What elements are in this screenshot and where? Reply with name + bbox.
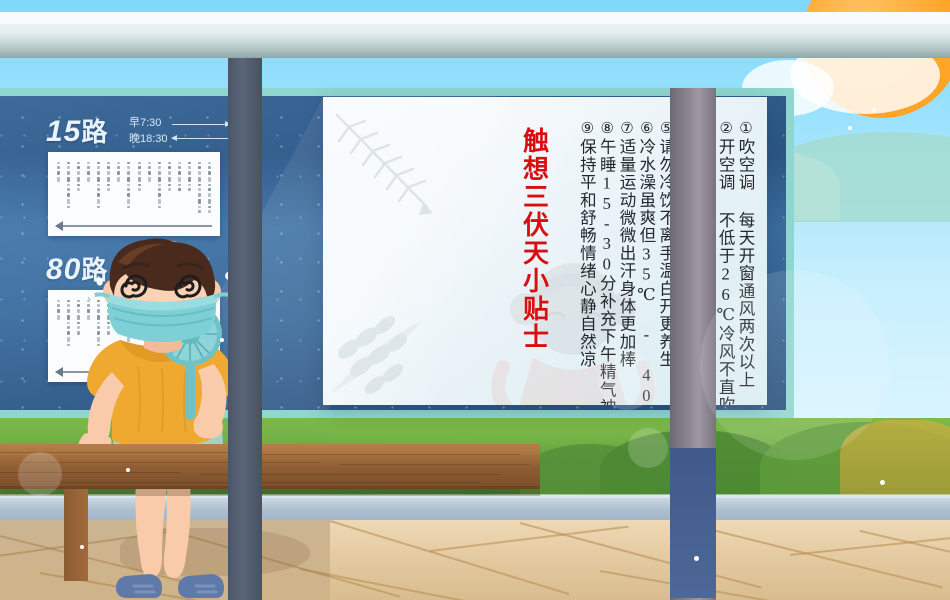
route-evening-time: 晚18:30 bbox=[129, 132, 168, 148]
bokeh-circle bbox=[598, 352, 656, 410]
sparkle-dot bbox=[848, 126, 852, 130]
wood-grain-line bbox=[60, 482, 480, 483]
timetable-tick bbox=[107, 162, 110, 164]
timetable-tick bbox=[117, 171, 120, 175]
timetable-column bbox=[137, 160, 142, 216]
timetable-column bbox=[76, 160, 81, 216]
timetable-tick bbox=[67, 193, 70, 197]
timetable-column bbox=[56, 298, 61, 362]
timetable-tick bbox=[97, 199, 100, 204]
timetable-tick bbox=[198, 210, 201, 213]
timetable-tick bbox=[57, 171, 60, 175]
timetable-tick bbox=[67, 184, 70, 186]
timetable-tick bbox=[178, 184, 181, 186]
timetable-tick bbox=[107, 184, 110, 186]
timetable-column bbox=[86, 160, 91, 216]
wood-grain-line bbox=[260, 454, 520, 455]
timetable-tick bbox=[208, 177, 211, 182]
timetable-tick bbox=[198, 166, 201, 169]
timetable-tick bbox=[97, 188, 100, 191]
route-direction-arrow bbox=[172, 124, 230, 125]
tip-item: ⑦适量运动微微出汗身体更加棒 bbox=[617, 119, 634, 391]
timetable-tick bbox=[188, 166, 191, 169]
timetable-column bbox=[187, 160, 192, 216]
timetable-tick bbox=[117, 162, 120, 164]
tip-number: ⑦ bbox=[618, 119, 634, 138]
timetable-tick bbox=[57, 166, 60, 169]
timetable-tick bbox=[57, 162, 60, 164]
bench-leg bbox=[64, 489, 88, 581]
timetable-tick bbox=[178, 166, 181, 169]
timetable-tick bbox=[117, 177, 120, 182]
pavement-line bbox=[430, 526, 629, 552]
timetable-tick bbox=[158, 171, 161, 175]
timetable-tick bbox=[158, 184, 161, 186]
timetable-column bbox=[56, 160, 61, 216]
timetable-tick bbox=[158, 177, 161, 182]
timetable-tick bbox=[198, 199, 201, 204]
timetable-tick bbox=[67, 315, 70, 320]
timetable-tick bbox=[208, 184, 211, 186]
timetable-tick bbox=[198, 188, 201, 191]
timetable-tick bbox=[67, 304, 70, 307]
bokeh-circle bbox=[628, 428, 668, 468]
timetable-tick bbox=[67, 331, 70, 335]
timetable-panel-15[interactable] bbox=[48, 152, 220, 236]
timetable-column bbox=[177, 160, 182, 216]
lens-flare-bokeh bbox=[700, 270, 890, 460]
sparkle-dot bbox=[126, 468, 130, 472]
timetable-tick bbox=[168, 171, 171, 175]
timetable-tick bbox=[117, 166, 120, 169]
bench-wood-grain bbox=[0, 444, 540, 489]
timetable-tick bbox=[57, 304, 60, 307]
timetable-tick bbox=[107, 188, 110, 191]
route-label-15[interactable]: 15路 bbox=[46, 112, 108, 149]
timetable-tick bbox=[178, 177, 181, 182]
timetable-tick bbox=[77, 171, 80, 175]
billboard-title: 触想三伏天小贴士 bbox=[519, 127, 548, 377]
timetable-tick bbox=[77, 162, 80, 164]
timetable-tick bbox=[188, 177, 191, 182]
timetable-tick bbox=[198, 193, 201, 197]
timetable-tick bbox=[158, 193, 161, 197]
timetable-tick bbox=[127, 177, 130, 182]
route-morning-time: 早7:30 bbox=[129, 116, 168, 132]
timetable-tick bbox=[178, 171, 181, 175]
pavement-line bbox=[330, 520, 570, 595]
tip-item: ⑨保持平和舒畅情绪心静自然凉 bbox=[578, 119, 595, 391]
timetable-tick bbox=[198, 162, 201, 164]
sparkle-dot bbox=[220, 338, 224, 342]
timetable-tick bbox=[208, 188, 211, 191]
timetable-tick bbox=[87, 162, 90, 164]
timetable-tick bbox=[188, 171, 191, 175]
timetable-tick bbox=[107, 166, 110, 169]
timetable-tick bbox=[127, 206, 130, 208]
timetable-tick bbox=[97, 177, 100, 182]
timetable-tick bbox=[67, 188, 70, 191]
timetable-tick bbox=[168, 184, 171, 186]
timetable-tick bbox=[77, 166, 80, 169]
timetable-tick bbox=[178, 188, 181, 191]
timetable-columns bbox=[56, 160, 212, 216]
timetable-tick bbox=[208, 210, 211, 213]
timetable-tick bbox=[208, 199, 211, 204]
timetable-tick bbox=[127, 188, 130, 191]
scene-stage: 15路 早7:30 晚18:30 80路 早7:30 晚18:30 bbox=[0, 0, 950, 600]
timetable-tick bbox=[87, 171, 90, 175]
timetable-tick bbox=[127, 171, 130, 175]
tip-item: ⑧午睡15-30分补充下午精气神 bbox=[597, 119, 614, 391]
route-number: 15 bbox=[46, 115, 81, 148]
timetable-tick bbox=[148, 166, 151, 169]
timetable-tick bbox=[198, 206, 201, 208]
timetable-tick bbox=[168, 177, 171, 182]
timetable-tick bbox=[67, 177, 70, 182]
timetable-tick bbox=[148, 162, 151, 164]
timetable-tick bbox=[127, 199, 130, 204]
timetable-tick bbox=[67, 337, 70, 342]
timetable-tick bbox=[138, 177, 141, 182]
timetable-column bbox=[66, 298, 71, 362]
sparkle-dot bbox=[880, 480, 885, 485]
sparkle-dot bbox=[826, 86, 829, 89]
timetable-tick bbox=[188, 184, 191, 186]
tip-number: ⑧ bbox=[598, 119, 614, 138]
timetable-column bbox=[116, 160, 121, 216]
timetable-tick bbox=[87, 177, 90, 182]
timetable-tick bbox=[67, 199, 70, 204]
timetable-tick bbox=[138, 162, 141, 164]
timetable-tick bbox=[67, 162, 70, 164]
timetable-tick bbox=[188, 188, 191, 191]
timetable-tick bbox=[158, 188, 161, 191]
route-suffix: 路 bbox=[81, 117, 108, 147]
timetable-tick bbox=[127, 184, 130, 186]
timetable-tick bbox=[127, 162, 130, 164]
timetable-tick bbox=[158, 166, 161, 169]
timetable-tick bbox=[208, 162, 211, 164]
shelter-roof bbox=[0, 18, 950, 58]
wood-grain-line bbox=[20, 462, 320, 463]
sparkle-dot bbox=[748, 176, 752, 180]
timetable-tick bbox=[57, 177, 60, 182]
timetable-tick bbox=[127, 166, 130, 169]
timetable-tick bbox=[97, 171, 100, 175]
timetable-column bbox=[157, 160, 162, 216]
sparkle-dot bbox=[694, 556, 699, 561]
timetable-tick bbox=[67, 326, 70, 329]
timetable-tick bbox=[158, 162, 161, 164]
shelter-column-base bbox=[670, 448, 716, 598]
timetable-tick bbox=[198, 184, 201, 186]
timetable-tick bbox=[67, 171, 70, 175]
wood-grain-line bbox=[340, 464, 530, 465]
tip-text: 保持平和舒畅情绪心静自然凉 bbox=[577, 138, 596, 368]
timetable-column bbox=[96, 160, 101, 216]
tip-item: ⑥冷水澡虽爽但35℃ - 40℃为宜 bbox=[637, 119, 654, 391]
tip-number: ⑨ bbox=[578, 119, 594, 138]
timetable-tick bbox=[107, 177, 110, 182]
tip-text: 适量运动微微出汗身体更加棒 bbox=[617, 138, 636, 368]
timetable-tick bbox=[178, 162, 181, 164]
timetable-tick bbox=[77, 184, 80, 186]
timetable-tick bbox=[198, 171, 201, 175]
timetable-tick bbox=[208, 193, 211, 197]
timetable-tick bbox=[97, 184, 100, 186]
timetable-tick bbox=[138, 166, 141, 169]
timetable-tick bbox=[168, 162, 171, 164]
timetable-tick bbox=[208, 206, 211, 208]
timetable-column bbox=[197, 160, 202, 216]
timetable-tick bbox=[77, 177, 80, 182]
timetable-tick bbox=[188, 162, 191, 164]
timetable-tick bbox=[77, 188, 80, 191]
route-number: 80 bbox=[46, 253, 81, 286]
timetable-tick bbox=[57, 315, 60, 320]
timetable-tick bbox=[97, 162, 100, 164]
timetable-tick bbox=[67, 322, 70, 324]
timetable-tick bbox=[168, 166, 171, 169]
sparkle-dot bbox=[80, 545, 84, 549]
timetable-tick bbox=[67, 309, 70, 313]
timetable-column bbox=[66, 160, 71, 216]
timetable-tick bbox=[138, 171, 141, 175]
pavement-line bbox=[300, 568, 615, 600]
shelter-column-left bbox=[228, 52, 262, 600]
timetable-tick bbox=[97, 206, 100, 208]
timetable-tick bbox=[127, 193, 130, 197]
timetable-tick bbox=[67, 206, 70, 208]
route-direction-arrow-reverse bbox=[172, 138, 230, 139]
timetable-tick bbox=[208, 166, 211, 169]
timetable-tick bbox=[57, 309, 60, 313]
timetable-tick bbox=[97, 193, 100, 197]
timetable-baseline bbox=[56, 225, 212, 227]
shelter-roof-cap bbox=[0, 12, 950, 24]
timetable-tick bbox=[148, 171, 151, 175]
timetable-tick bbox=[87, 166, 90, 169]
timetable-tick bbox=[168, 188, 171, 191]
timetable-tick bbox=[158, 199, 161, 204]
timetable-tick bbox=[57, 300, 60, 302]
timetable-tick bbox=[208, 171, 211, 175]
timetable-tick bbox=[67, 166, 70, 169]
timetable-tick bbox=[158, 206, 161, 208]
timetable-column bbox=[207, 160, 212, 216]
timetable-column bbox=[147, 160, 152, 216]
timetable-tick bbox=[138, 184, 141, 186]
timetable-tick bbox=[138, 188, 141, 191]
route-times-15: 早7:30 晚18:30 bbox=[129, 116, 168, 148]
timetable-tick bbox=[148, 177, 151, 182]
timetable-column bbox=[106, 160, 111, 216]
timetable-tick bbox=[97, 166, 100, 169]
timetable-column bbox=[167, 160, 172, 216]
timetable-tick bbox=[107, 171, 110, 175]
tip-number: ⑥ bbox=[638, 119, 654, 138]
tip-number: ② bbox=[717, 119, 733, 138]
pavement-line bbox=[860, 530, 950, 572]
pavement-line bbox=[600, 570, 925, 600]
tip-number: ① bbox=[737, 119, 753, 138]
timetable-tick bbox=[198, 177, 201, 182]
timetable-column bbox=[126, 160, 131, 216]
timetable-tick bbox=[67, 344, 70, 346]
sparkle-dot bbox=[872, 108, 876, 112]
timetable-tick bbox=[67, 300, 70, 302]
bokeh-circle bbox=[18, 452, 62, 496]
